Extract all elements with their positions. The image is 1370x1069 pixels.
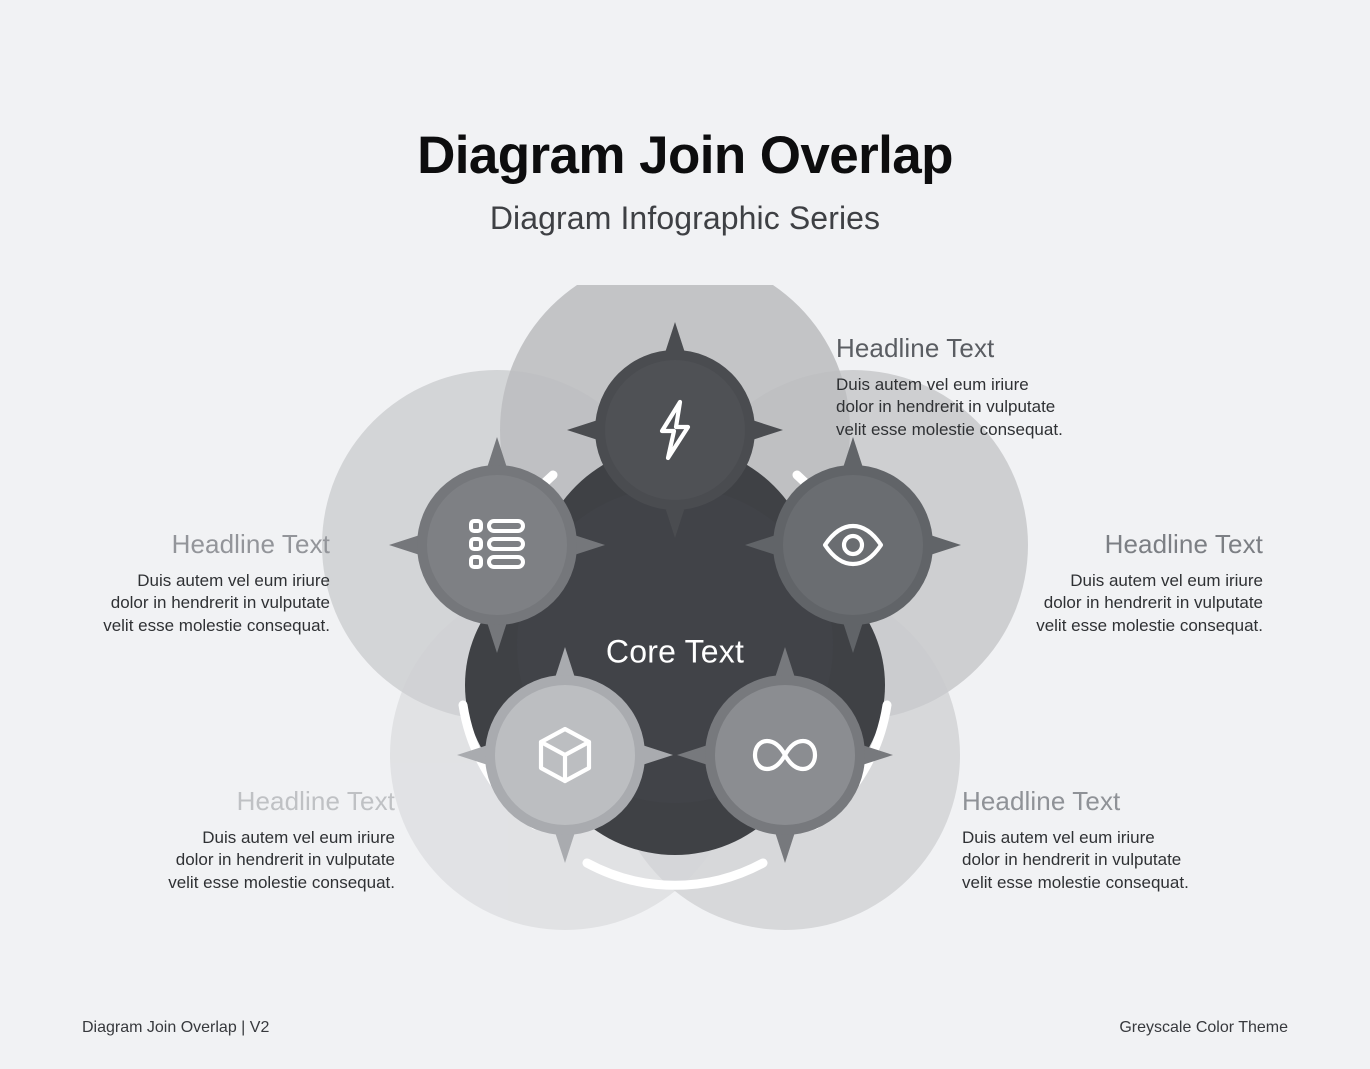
body-top: Duis autem vel eum iriure dolor in hendr…	[836, 374, 1136, 441]
body-bottom-left-line1: Duis autem vel eum iriure	[92, 827, 395, 849]
headline-top: Headline Text	[836, 334, 1136, 364]
headline-left: Headline Text	[92, 530, 330, 560]
slide-canvas: Diagram Join Overlap Diagram Infographic…	[0, 0, 1370, 1069]
body-left-line1: Duis autem vel eum iriure	[92, 570, 330, 592]
body-bottom-right: Duis autem vel eum iriure dolor in hendr…	[962, 827, 1262, 894]
body-right-line1: Duis autem vel eum iriure	[960, 570, 1263, 592]
body-top-line2: dolor in hendrerit in vulputate	[836, 396, 1136, 418]
body-bottom-right-line3: velit esse molestie consequat.	[962, 872, 1262, 894]
body-bottom-left-line2: dolor in hendrerit in vulputate	[92, 849, 395, 871]
body-left: Duis autem vel eum iriure dolor in hendr…	[92, 570, 330, 637]
text-block-top: Headline Text Duis autem vel eum iriure …	[836, 334, 1136, 441]
body-left-line2: dolor in hendrerit in vulputate	[92, 592, 330, 614]
headline-bottom-left: Headline Text	[92, 787, 395, 817]
body-right-line3: velit esse molestie consequat.	[960, 615, 1263, 637]
body-bottom-right-line1: Duis autem vel eum iriure	[962, 827, 1262, 849]
body-right: Duis autem vel eum iriure dolor in hendr…	[960, 570, 1263, 637]
footer-right-label: Greyscale Color Theme	[1119, 1019, 1288, 1037]
text-block-bottom-left: Headline Text Duis autem vel eum iriure …	[92, 787, 395, 894]
body-right-line2: dolor in hendrerit in vulputate	[960, 592, 1263, 614]
headline-bottom-right: Headline Text	[962, 787, 1262, 817]
page-subtitle: Diagram Infographic Series	[0, 200, 1370, 237]
body-bottom-left-line3: velit esse molestie consequat.	[92, 872, 395, 894]
header: Diagram Join Overlap Diagram Infographic…	[0, 128, 1370, 237]
footer: Diagram Join Overlap | V2 Greyscale Colo…	[0, 1019, 1370, 1041]
node-left-disc	[427, 475, 567, 615]
text-block-right: Headline Text Duis autem vel eum iriure …	[960, 530, 1263, 637]
headline-right: Headline Text	[960, 530, 1263, 560]
page-title: Diagram Join Overlap	[0, 128, 1370, 184]
body-bottom-right-line2: dolor in hendrerit in vulputate	[962, 849, 1262, 871]
body-left-line3: velit esse molestie consequat.	[92, 615, 330, 637]
text-block-bottom-right: Headline Text Duis autem vel eum iriure …	[962, 787, 1262, 894]
body-bottom-left: Duis autem vel eum iriure dolor in hendr…	[92, 827, 395, 894]
text-block-left: Headline Text Duis autem vel eum iriure …	[92, 530, 330, 637]
body-top-line1: Duis autem vel eum iriure	[836, 374, 1136, 396]
node-right-disc	[783, 475, 923, 615]
body-top-line3: velit esse molestie consequat.	[836, 419, 1136, 441]
footer-left-label: Diagram Join Overlap | V2	[82, 1019, 269, 1037]
